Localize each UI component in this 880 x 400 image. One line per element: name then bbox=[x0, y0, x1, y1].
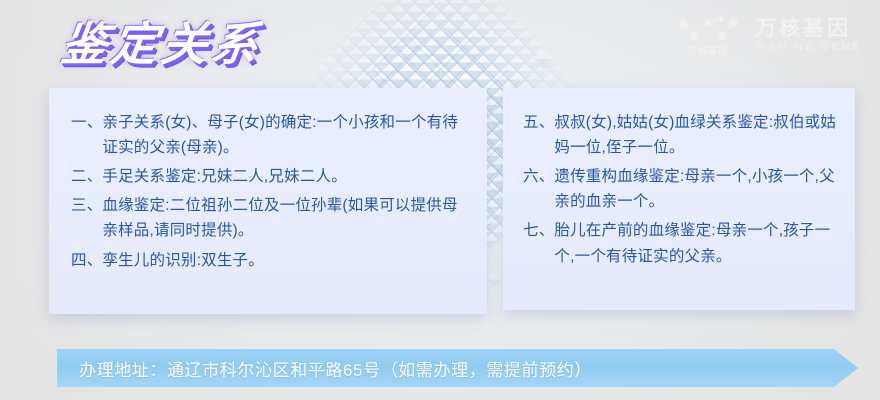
cube-decoration bbox=[306, 37, 324, 55]
list-item-index: 五、 bbox=[523, 110, 554, 135]
relationship-list-left: 一、 亲子关系(女)、母子(女)的确定:一个小孩和一个有待证实的父亲(母亲)。 … bbox=[49, 88, 487, 273]
relationship-list-panel-left: 一、 亲子关系(女)、母子(女)的确定:一个小孩和一个有待证实的父亲(母亲)。 … bbox=[49, 88, 487, 314]
list-item-index: 三、 bbox=[71, 193, 102, 218]
poster-root: 鉴定关系 bbox=[0, 0, 880, 400]
list-item: 七、 胎儿在产前的血缘鉴定:母亲一个,孩子一个,一个有待证实的父亲。 bbox=[523, 218, 839, 268]
list-item-text: 手足关系鉴定:兄妹二人,兄妹二人。 bbox=[102, 164, 469, 189]
list-item-index: 一、 bbox=[71, 110, 102, 135]
address-ribbon: 办理地址：通辽市科尔沁区和平路65号（如需办理，需提前预约） bbox=[57, 349, 858, 387]
molecule-network-icon bbox=[677, 14, 739, 44]
list-item-text: 胎儿在产前的血缘鉴定:母亲一个,孩子一个,一个有待证实的父亲。 bbox=[554, 218, 839, 268]
list-item-text: 叔叔(女),姑姑(女)血绿关系鉴定:叔伯或姑妈一位,侄子一位。 bbox=[554, 110, 839, 160]
list-item-text: 血缘鉴定:二位祖孙二位及一位孙辈(如果可以提供母亲样品,请同时提供)。 bbox=[102, 193, 469, 243]
list-item-text: 遗传重构血缘鉴定:母亲一个,小孩一个,父亲的血亲一个。 bbox=[554, 164, 839, 214]
list-item-index: 六、 bbox=[523, 164, 554, 189]
brand-name-block: 万核基因 WAN HE GENE bbox=[755, 18, 862, 53]
relationship-list-right: 五、 叔叔(女),姑姑(女)血绿关系鉴定:叔伯或姑妈一位,侄子一位。 六、 遗传… bbox=[503, 88, 855, 269]
list-item: 四、 孪生儿的识别:双生子。 bbox=[71, 248, 469, 273]
brand-lockup: 万核基因 万核基因 WAN HE GENE bbox=[677, 14, 862, 56]
list-item: 六、 遗传重构血缘鉴定:母亲一个,小孩一个,父亲的血亲一个。 bbox=[523, 164, 839, 214]
list-item-index: 二、 bbox=[71, 164, 102, 189]
list-item: 三、 血缘鉴定:二位祖孙二位及一位孙辈(如果可以提供母亲样品,请同时提供)。 bbox=[71, 193, 469, 243]
relationship-list-panel-right: 五、 叔叔(女),姑姑(女)血绿关系鉴定:叔伯或姑妈一位,侄子一位。 六、 遗传… bbox=[503, 88, 855, 310]
bubble-decoration bbox=[567, 78, 577, 88]
page-title: 鉴定关系 bbox=[57, 8, 266, 74]
address-text: 办理地址：通辽市科尔沁区和平路65号（如需办理，需提前预约） bbox=[79, 356, 592, 381]
list-item-index: 四、 bbox=[71, 248, 102, 273]
bubble-decoration bbox=[339, 18, 348, 27]
bubble-decoration bbox=[503, 328, 509, 334]
list-item-index: 七、 bbox=[523, 218, 554, 243]
cube-decoration bbox=[487, 272, 503, 288]
list-item: 二、 手足关系鉴定:兄妹二人,兄妹二人。 bbox=[71, 164, 469, 189]
brand-logo-caption: 万核基因 bbox=[688, 47, 728, 56]
bubble-decoration bbox=[527, 16, 534, 23]
list-item-text: 亲子关系(女)、母子(女)的确定:一个小孩和一个有待证实的父亲(母亲)。 bbox=[102, 110, 469, 160]
brand-name-en: WAN HE GENE bbox=[755, 42, 862, 53]
list-item-text: 孪生儿的识别:双生子。 bbox=[102, 248, 469, 273]
brand-logo: 万核基因 bbox=[677, 14, 739, 56]
list-item: 五、 叔叔(女),姑姑(女)血绿关系鉴定:叔伯或姑妈一位,侄子一位。 bbox=[523, 110, 839, 160]
brand-name-cn: 万核基因 bbox=[755, 18, 862, 39]
list-item: 一、 亲子关系(女)、母子(女)的确定:一个小孩和一个有待证实的父亲(母亲)。 bbox=[71, 110, 469, 160]
